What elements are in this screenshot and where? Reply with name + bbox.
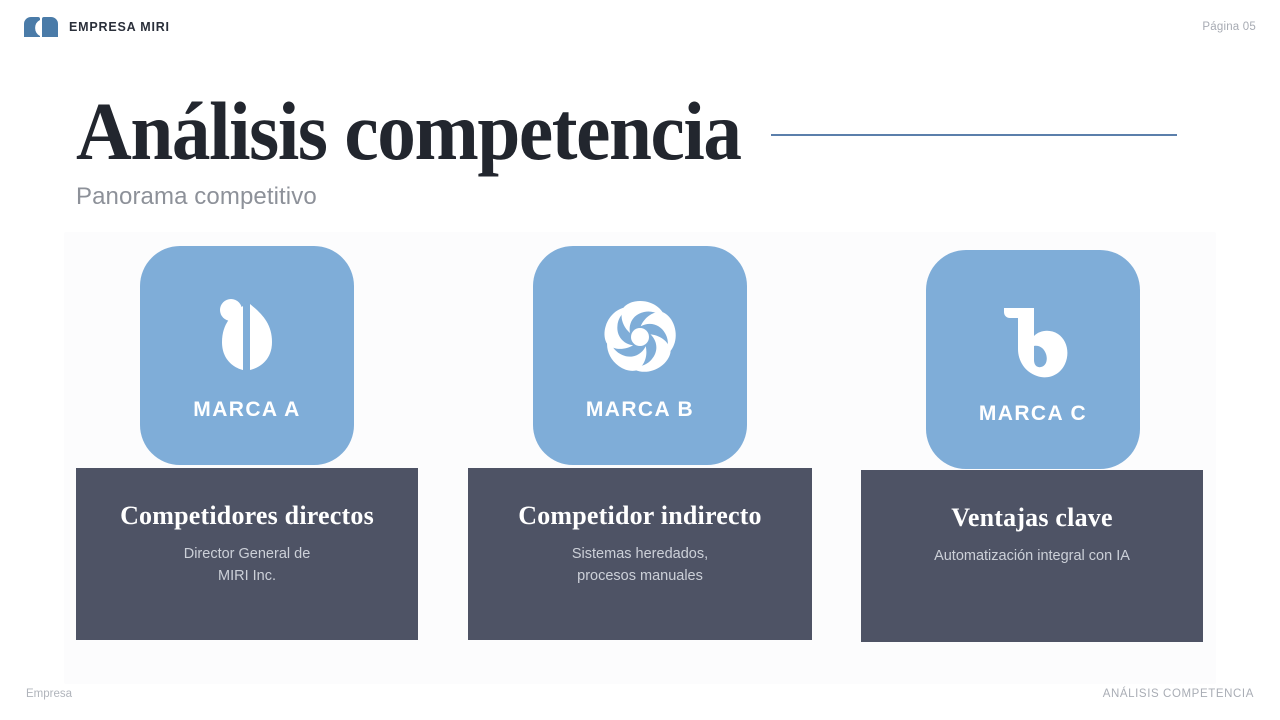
info-panel-b: Competidor indirecto Sistemas heredados,… — [468, 468, 812, 640]
footer-company: Empresa — [26, 688, 72, 700]
info-panel-c: Ventajas clave Automatización integral c… — [861, 470, 1203, 642]
brand-label-a: MARCA A — [193, 398, 300, 422]
info-desc-b: Sistemas heredados, procesos manuales — [572, 544, 708, 588]
leaf-sprout-icon — [202, 292, 292, 382]
brand-label-b: MARCA B — [586, 398, 694, 422]
brand-tile-a[interactable]: MARCA A — [140, 246, 354, 465]
letter-b-icon — [988, 296, 1078, 386]
info-desc-c: Automatización integral con IA — [934, 546, 1130, 568]
brand-label-c: MARCA C — [979, 402, 1087, 426]
brand-tile-b[interactable]: MARCA B — [533, 246, 747, 465]
footer-section: ANÁLISIS COMPETENCIA — [1103, 688, 1254, 700]
slide-canvas: EMPRESA MIRI Página 05 Análisis competen… — [0, 0, 1280, 720]
info-desc-a: Director General de MIRI Inc. — [184, 544, 311, 588]
info-title-c: Ventajas clave — [951, 503, 1112, 533]
info-title-a: Competidores directos — [120, 501, 374, 531]
info-panel-a: Competidores directos Director General d… — [76, 468, 418, 640]
competitor-card-grid: MARCA A Competidores directos Director G… — [0, 0, 1280, 720]
brand-tile-c[interactable]: MARCA C — [926, 250, 1140, 469]
info-title-b: Competidor indirecto — [518, 501, 762, 531]
swirl-rosette-icon — [595, 292, 685, 382]
